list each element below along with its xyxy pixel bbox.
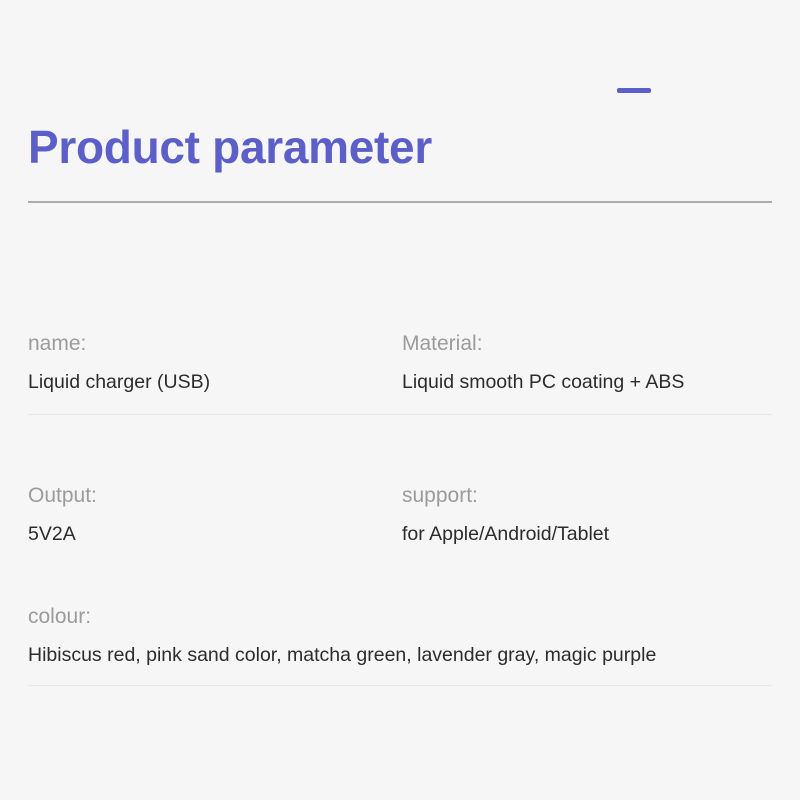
accent-dash-icon	[617, 88, 651, 93]
spec-value: Liquid charger (USB)	[28, 369, 210, 395]
spec-value: for Apple/Android/Tablet	[402, 521, 609, 547]
spec-value: Liquid smooth PC coating + ABS	[402, 369, 684, 395]
spec-value: 5V2A	[28, 521, 97, 547]
spec-cell-output: Output: 5V2A	[28, 482, 97, 547]
table-row: Output: 5V2A support: for Apple/Android/…	[0, 415, 800, 564]
product-parameter-page: Product parameter name: Liquid charger (…	[0, 0, 800, 800]
spec-cell-colour: colour: Hibiscus red, pink sand color, m…	[28, 603, 772, 668]
spec-cell-material: Material: Liquid smooth PC coating + ABS	[402, 330, 684, 395]
spec-cell-support: support: for Apple/Android/Tablet	[402, 482, 609, 547]
spec-value: Hibiscus red, pink sand color, matcha gr…	[28, 642, 772, 668]
page-title: Product parameter	[28, 117, 432, 177]
row-divider	[28, 685, 772, 686]
page-header: Product parameter	[0, 0, 800, 205]
spec-label: Output:	[28, 482, 97, 510]
spec-label: name:	[28, 330, 210, 358]
spec-table: name: Liquid charger (USB) Material: Liq…	[0, 205, 800, 686]
table-row: name: Liquid charger (USB) Material: Liq…	[0, 205, 800, 415]
spec-cell-name: name: Liquid charger (USB)	[28, 330, 210, 395]
title-divider	[28, 201, 772, 203]
table-row: colour: Hibiscus red, pink sand color, m…	[0, 564, 800, 686]
spec-label: support:	[402, 482, 609, 510]
spec-label: colour:	[28, 603, 772, 631]
spec-label: Material:	[402, 330, 684, 358]
